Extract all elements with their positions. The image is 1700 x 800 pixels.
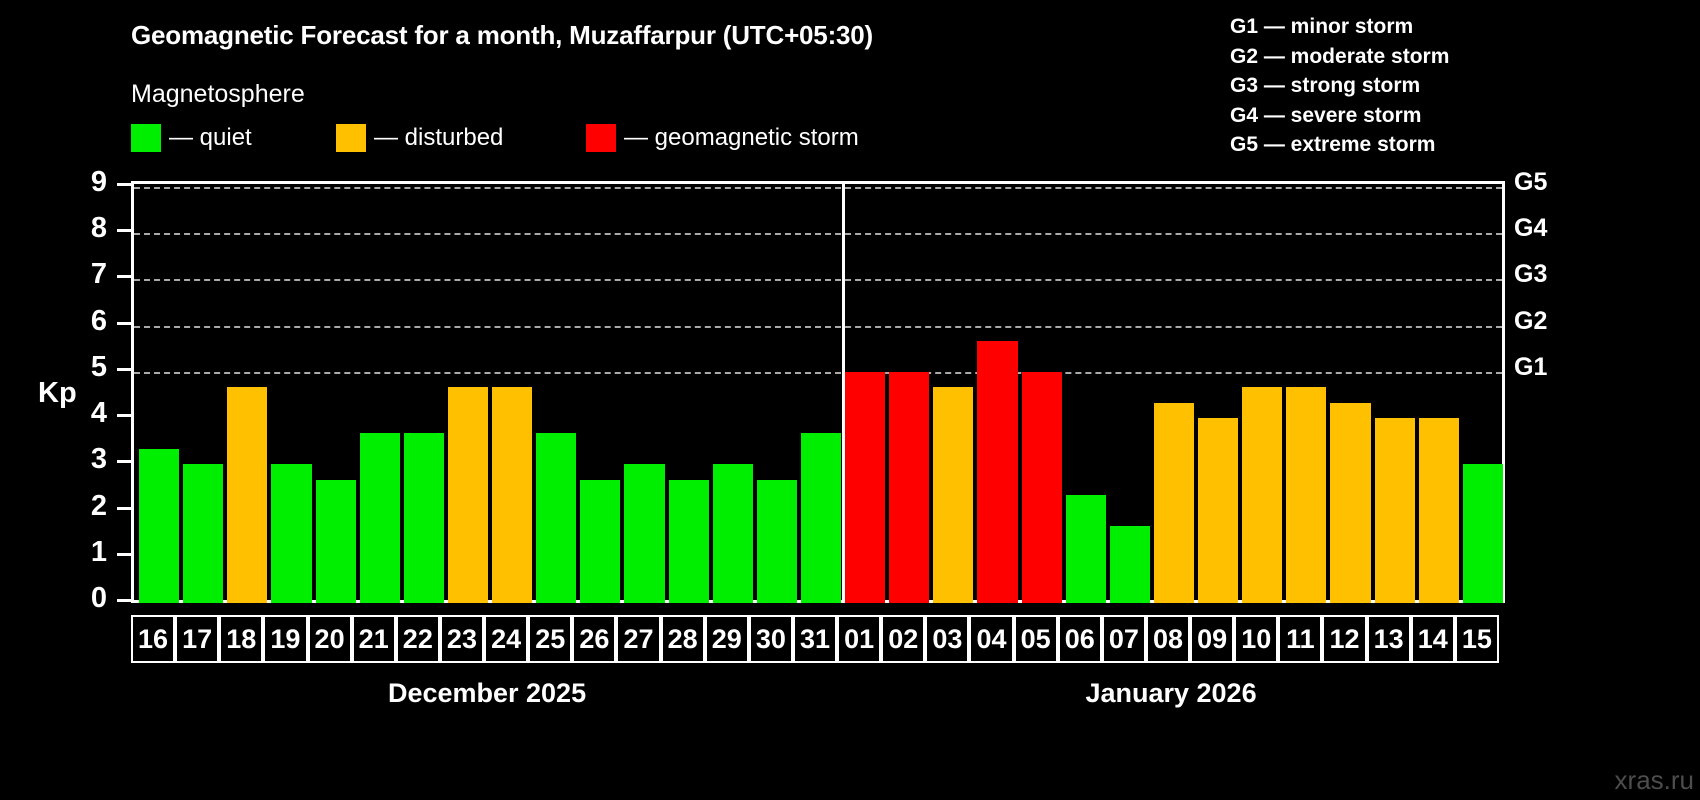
day-label-06: 06 bbox=[1058, 615, 1102, 663]
legend-swatch-storm bbox=[586, 124, 616, 152]
day-label-17: 17 bbox=[175, 615, 219, 663]
bar-day-03 bbox=[933, 387, 973, 603]
month-caption: January 2026 bbox=[971, 678, 1371, 709]
g-scale-label-g5: G5 bbox=[1514, 170, 1547, 195]
y-tick-label-9: 9 bbox=[61, 168, 107, 197]
g-scale-label-g3: G3 bbox=[1514, 262, 1547, 287]
y-tick-2 bbox=[117, 507, 131, 510]
y-tick-4 bbox=[117, 414, 131, 417]
legend-label-disturbed: — disturbed bbox=[366, 124, 503, 152]
bar-day-23 bbox=[448, 387, 488, 603]
geomagnetic-forecast-chart: Geomagnetic Forecast for a month, Muzaff… bbox=[0, 0, 1700, 800]
bar-day-20 bbox=[316, 480, 356, 603]
bar-day-24 bbox=[492, 387, 532, 603]
day-label-24: 24 bbox=[484, 615, 528, 663]
legend-swatch-disturbed bbox=[336, 124, 366, 152]
day-label-12: 12 bbox=[1322, 615, 1366, 663]
day-label-19: 19 bbox=[263, 615, 307, 663]
bar-day-08 bbox=[1154, 403, 1194, 603]
legend-item-storm: — geomagnetic storm bbox=[586, 124, 859, 154]
plot-area bbox=[131, 181, 1505, 603]
bar-day-22 bbox=[404, 433, 444, 603]
storm-scale-row-g4: G4 — severe storm bbox=[1230, 101, 1449, 131]
bar-day-06 bbox=[1066, 495, 1106, 603]
bar-day-25 bbox=[536, 433, 576, 603]
day-label-16: 16 bbox=[131, 615, 175, 663]
bar-day-28 bbox=[669, 480, 709, 603]
bar-day-15 bbox=[1463, 464, 1503, 603]
page-title: Geomagnetic Forecast for a month, Muzaff… bbox=[131, 20, 873, 51]
plot-frame bbox=[131, 181, 1505, 603]
day-label-23: 23 bbox=[440, 615, 484, 663]
y-tick-6 bbox=[117, 322, 131, 325]
g-scale-label-g4: G4 bbox=[1514, 216, 1547, 241]
bar-day-09 bbox=[1198, 418, 1238, 603]
y-tick-label-3: 3 bbox=[61, 445, 107, 474]
day-label-22: 22 bbox=[396, 615, 440, 663]
y-tick-8 bbox=[117, 229, 131, 232]
bar-day-04 bbox=[977, 341, 1017, 603]
watermark: xras.ru bbox=[1615, 765, 1694, 796]
bar-day-14 bbox=[1419, 418, 1459, 603]
bar-day-02 bbox=[889, 372, 929, 603]
day-label-15: 15 bbox=[1455, 615, 1499, 663]
bar-day-27 bbox=[624, 464, 664, 603]
y-tick-7 bbox=[117, 275, 131, 278]
day-label-strip: 1617181920212223242526272829303101020304… bbox=[131, 615, 1505, 663]
y-tick-label-8: 8 bbox=[61, 214, 107, 243]
day-label-03: 03 bbox=[925, 615, 969, 663]
y-tick-label-6: 6 bbox=[61, 307, 107, 336]
y-tick-label-1: 1 bbox=[61, 538, 107, 567]
bar-day-29 bbox=[713, 464, 753, 603]
day-label-20: 20 bbox=[308, 615, 352, 663]
day-label-25: 25 bbox=[528, 615, 572, 663]
legend-label-storm: — geomagnetic storm bbox=[616, 124, 859, 152]
legend-item-quiet: — quiet bbox=[131, 124, 252, 154]
y-tick-label-5: 5 bbox=[61, 353, 107, 382]
g-scale-label-g2: G2 bbox=[1514, 309, 1547, 334]
day-label-04: 04 bbox=[969, 615, 1013, 663]
day-label-13: 13 bbox=[1367, 615, 1411, 663]
y-tick-label-0: 0 bbox=[61, 584, 107, 613]
storm-scale-row-g5: G5 — extreme storm bbox=[1230, 130, 1449, 160]
bar-day-21 bbox=[360, 433, 400, 603]
bar-day-11 bbox=[1286, 387, 1326, 603]
day-label-30: 30 bbox=[749, 615, 793, 663]
day-label-26: 26 bbox=[572, 615, 616, 663]
month-caption: December 2025 bbox=[287, 678, 687, 709]
bar-day-17 bbox=[183, 464, 223, 603]
day-label-29: 29 bbox=[705, 615, 749, 663]
bar-day-26 bbox=[580, 480, 620, 603]
day-label-14: 14 bbox=[1411, 615, 1455, 663]
bar-day-30 bbox=[757, 480, 797, 603]
day-label-05: 05 bbox=[1014, 615, 1058, 663]
bar-day-13 bbox=[1375, 418, 1415, 603]
bar-day-18 bbox=[227, 387, 267, 603]
storm-scale-row-g2: G2 — moderate storm bbox=[1230, 42, 1449, 72]
day-label-09: 09 bbox=[1190, 615, 1234, 663]
y-tick-3 bbox=[117, 460, 131, 463]
bar-series bbox=[137, 187, 1505, 603]
y-tick-label-7: 7 bbox=[61, 260, 107, 289]
day-label-02: 02 bbox=[881, 615, 925, 663]
y-tick-label-4: 4 bbox=[61, 399, 107, 428]
legend-label-quiet: — quiet bbox=[161, 124, 252, 152]
day-label-28: 28 bbox=[661, 615, 705, 663]
bar-day-01 bbox=[845, 372, 885, 603]
legend-swatch-quiet bbox=[131, 124, 161, 152]
chart-subtitle: Magnetosphere bbox=[131, 80, 305, 109]
bar-day-05 bbox=[1022, 372, 1062, 603]
storm-scale-row-g3: G3 — strong storm bbox=[1230, 71, 1449, 101]
bar-day-12 bbox=[1330, 403, 1370, 603]
g-scale-label-g1: G1 bbox=[1514, 355, 1547, 380]
day-label-31: 31 bbox=[793, 615, 837, 663]
y-tick-1 bbox=[117, 553, 131, 556]
bar-day-10 bbox=[1242, 387, 1282, 603]
storm-scale-row-g1: G1 — minor storm bbox=[1230, 12, 1449, 42]
y-tick-0 bbox=[117, 599, 131, 602]
y-tick-5 bbox=[117, 368, 131, 371]
day-label-18: 18 bbox=[219, 615, 263, 663]
day-label-10: 10 bbox=[1234, 615, 1278, 663]
day-label-27: 27 bbox=[616, 615, 660, 663]
bar-day-07 bbox=[1110, 526, 1150, 603]
day-label-08: 08 bbox=[1146, 615, 1190, 663]
bar-day-19 bbox=[271, 464, 311, 603]
day-label-01: 01 bbox=[837, 615, 881, 663]
day-label-21: 21 bbox=[352, 615, 396, 663]
bar-day-16 bbox=[139, 449, 179, 603]
y-tick-label-2: 2 bbox=[61, 492, 107, 521]
storm-scale-key: G1 — minor stormG2 — moderate stormG3 — … bbox=[1230, 12, 1449, 160]
day-label-11: 11 bbox=[1278, 615, 1322, 663]
legend-item-disturbed: — disturbed bbox=[336, 124, 503, 154]
y-tick-9 bbox=[117, 183, 131, 186]
day-label-07: 07 bbox=[1102, 615, 1146, 663]
bar-day-31 bbox=[801, 433, 841, 603]
